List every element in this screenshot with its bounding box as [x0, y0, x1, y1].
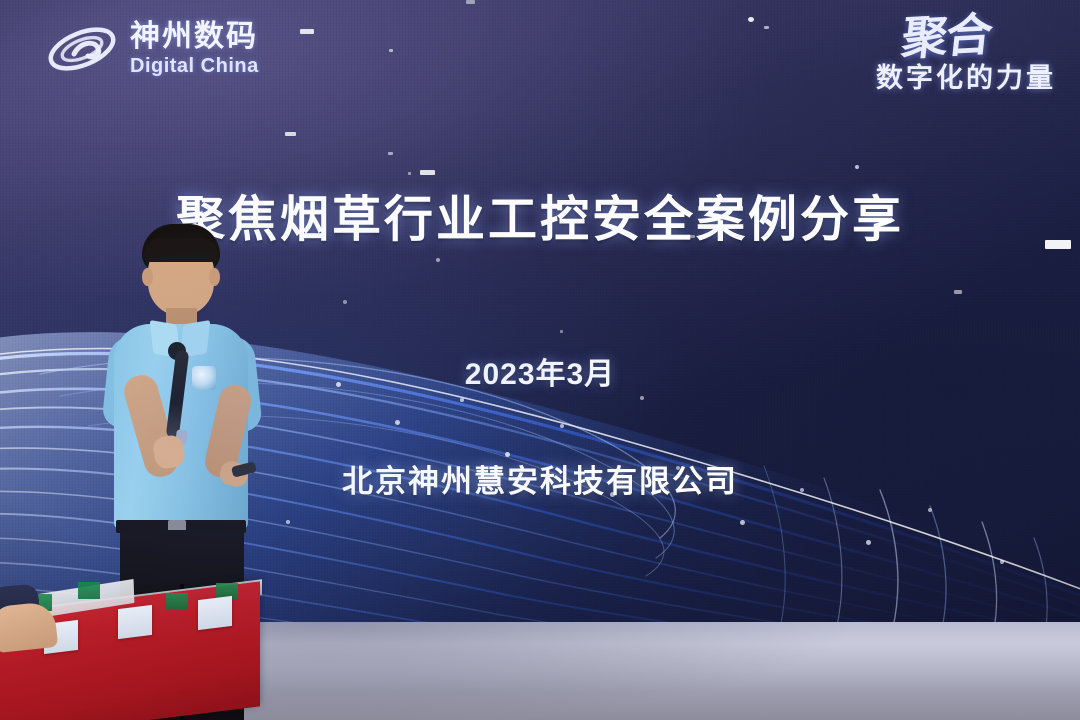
brand-name-cn: 神州数码 [130, 22, 259, 52]
event-calligraphy: 聚合 [873, 13, 992, 63]
bottle-label [78, 582, 100, 599]
speaker-ear-right [209, 268, 220, 286]
bottle-label [166, 593, 188, 610]
conference-stage-photo: 神州数码 Digital China 聚合 数字化的力量 聚焦烟草行业工控安全案… [0, 0, 1080, 720]
swirl-galaxy-icon [44, 18, 120, 80]
speaker-presenter [96, 224, 266, 624]
name-placard [118, 605, 152, 639]
name-placard [198, 596, 232, 630]
brand-name-en: Digital China [130, 56, 259, 76]
digital-china-logo: 神州数码 Digital China [44, 18, 259, 80]
digital-china-wordmark: 神州数码 Digital China [130, 22, 259, 76]
chest-logo-badge-icon [192, 366, 216, 390]
event-slogan-logo: 聚合 数字化的力量 [876, 16, 1056, 95]
speaker-fringe [144, 238, 218, 262]
speaker-ear-left [142, 268, 153, 286]
